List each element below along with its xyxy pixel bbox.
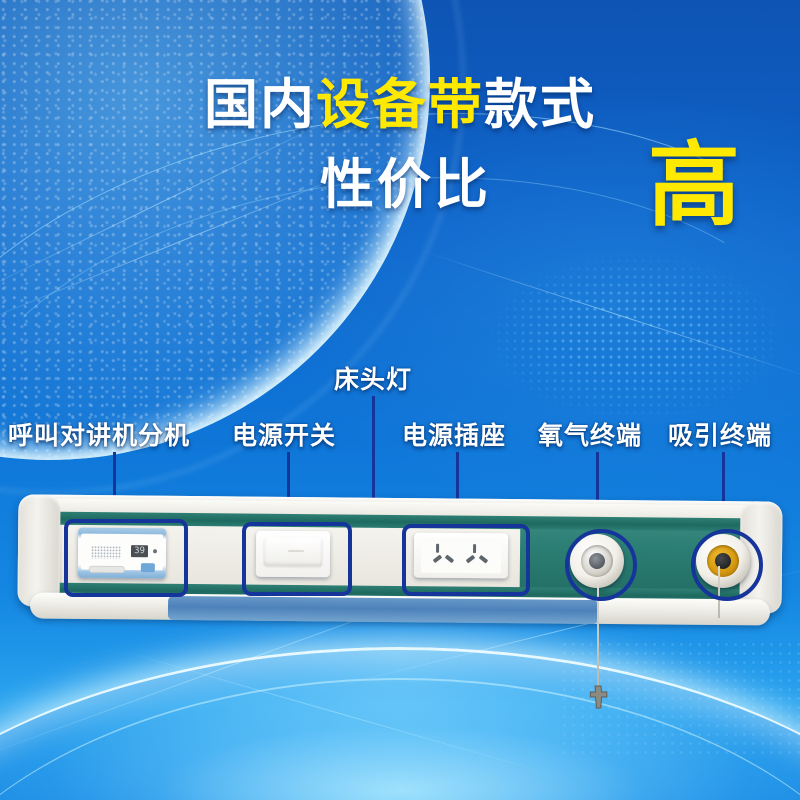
callout-label-oxygen-terminal: 氧气终端	[538, 416, 642, 452]
callout-label-power-switch: 电源开关	[232, 416, 336, 452]
headline-part-3: 款式	[484, 73, 596, 136]
headline-block: 国内设备带款式	[0, 78, 800, 132]
headline-part-2: 设备带	[316, 73, 484, 136]
callout-label-power-socket: 电源插座	[402, 416, 506, 452]
bhu-end-cap-left	[17, 494, 60, 606]
headline-line-1: 国内设备带款式	[0, 78, 800, 132]
highlight-box-intercom	[64, 519, 188, 597]
callout-label-suction-terminal: 吸引终端	[668, 416, 772, 452]
headline-line-2: 性价比	[320, 158, 491, 212]
highlight-box-power-switch	[242, 522, 352, 596]
headline-accent-gao: 高	[648, 140, 740, 232]
pull-cord-weight-icon	[587, 684, 609, 710]
headline-part-1: 国内	[204, 73, 316, 136]
callout-label-bed-lamp: 床头灯	[334, 360, 412, 396]
highlight-circle-oxygen	[565, 529, 637, 601]
highlight-box-power-socket	[402, 524, 530, 596]
callout-label-intercom: 呼叫对讲机分机	[8, 416, 190, 452]
promo-banner: 国内设备带款式 性价比 高 呼叫对讲机分机 电源开关 床头灯 电源插座 氧气终端…	[0, 0, 800, 800]
highlight-circle-suction	[691, 529, 763, 601]
bhu-rail-blue-inset	[168, 596, 598, 624]
